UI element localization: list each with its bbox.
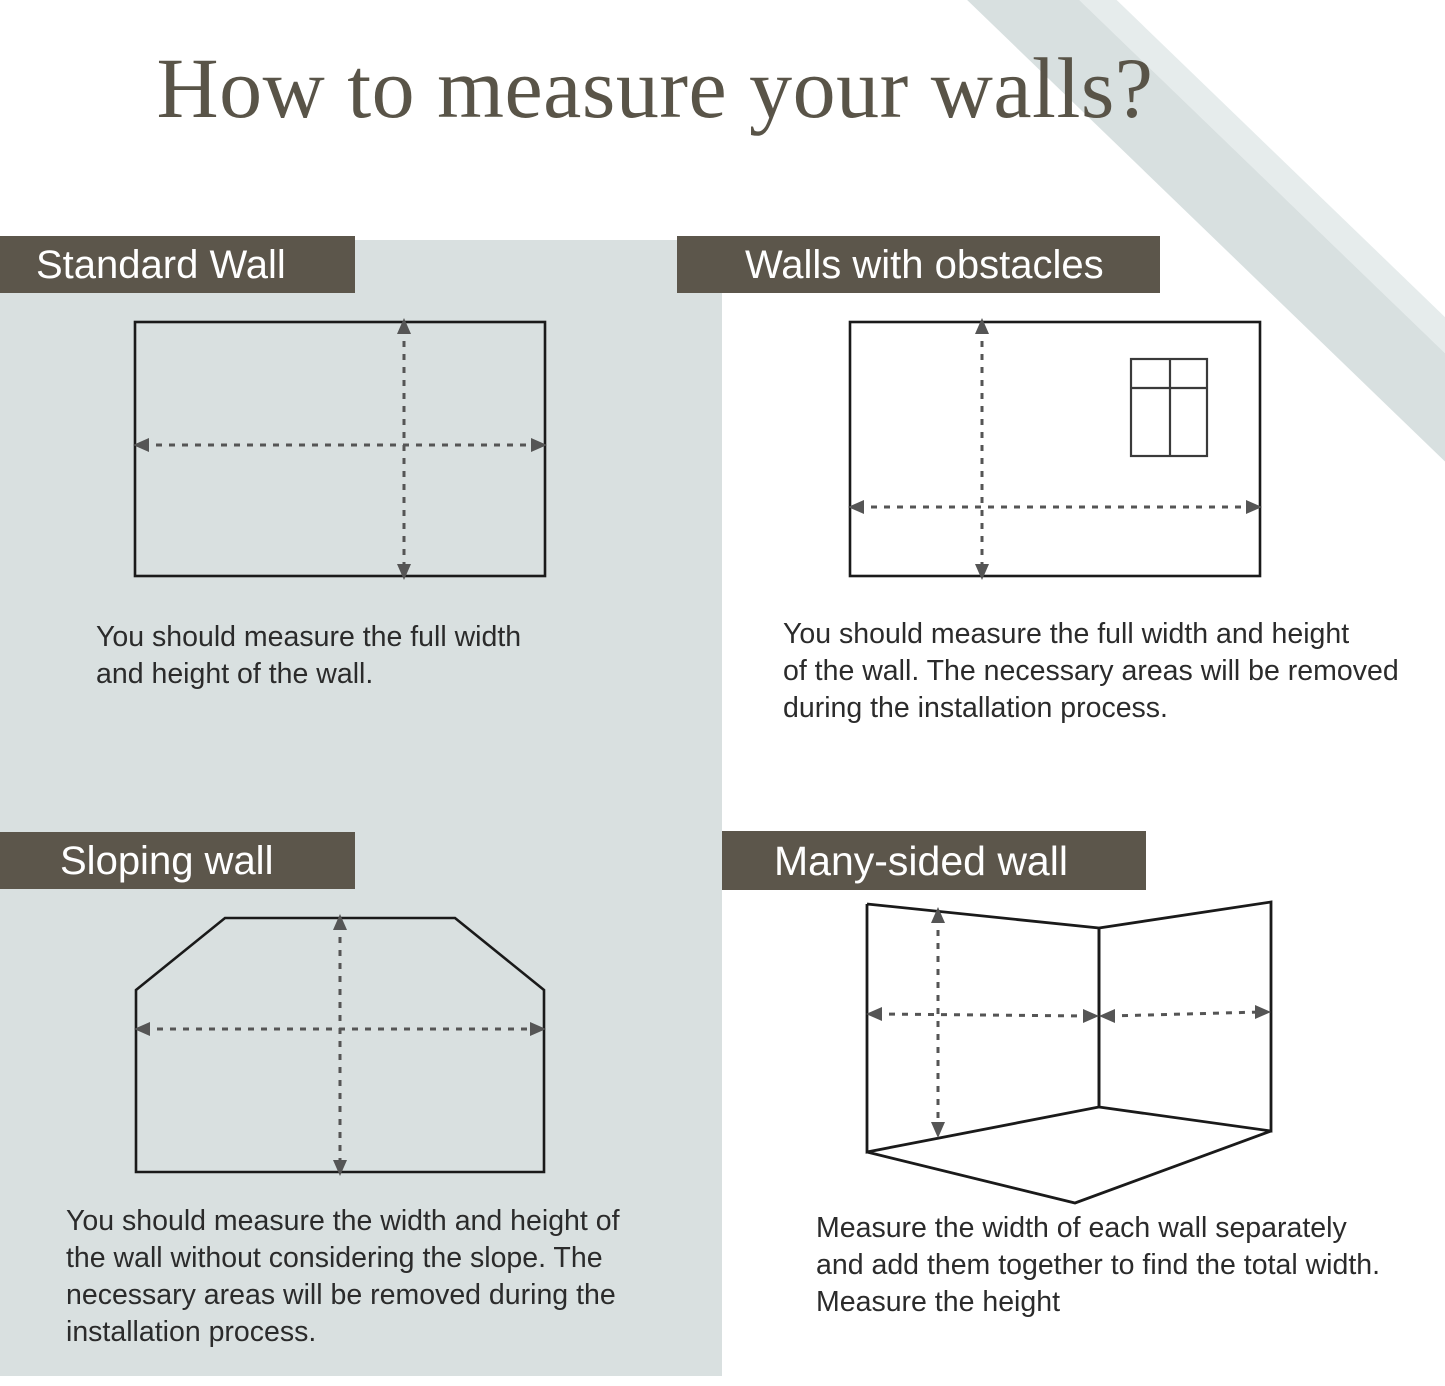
description-sloping-wall: You should measure the width and height … bbox=[66, 1203, 666, 1351]
left-wall-outline bbox=[867, 904, 1099, 1152]
room-geometry bbox=[867, 902, 1271, 1203]
section-header-sloping-wall-label: Sloping wall bbox=[60, 841, 273, 881]
width-1-arrowhead-left bbox=[866, 1007, 882, 1021]
window-obstacle bbox=[1131, 359, 1207, 456]
height-arrowhead-bottom bbox=[397, 564, 411, 580]
width-2-arrowhead-left bbox=[1099, 1009, 1115, 1023]
height-arrowhead-bottom bbox=[975, 564, 989, 580]
page-title: How to measure your walls? bbox=[0, 36, 1310, 140]
description-standard-wall: You should measure the full width and he… bbox=[96, 619, 656, 693]
height-arrowhead-top bbox=[333, 914, 347, 930]
diagram-standard-wall bbox=[110, 300, 580, 600]
diagram-walls-with-obstacles bbox=[830, 300, 1290, 600]
height-arrowhead-bottom bbox=[931, 1122, 945, 1138]
description-walls-with-obstacles: You should measure the full width and he… bbox=[783, 616, 1423, 727]
infographic-page: How to measure your walls? Standard Wall… bbox=[0, 0, 1445, 1386]
section-header-sloping-wall: Sloping wall bbox=[0, 832, 355, 889]
section-header-walls-with-obstacles-label: Walls with obstacles bbox=[745, 245, 1104, 285]
wall-outline-rect bbox=[135, 322, 545, 576]
section-header-standard-wall: Standard Wall bbox=[0, 236, 355, 293]
height-arrowhead-top bbox=[931, 907, 945, 923]
width-2-arrowhead-right bbox=[1255, 1005, 1271, 1019]
description-many-sided-wall: Measure the width of each wall separatel… bbox=[816, 1210, 1436, 1321]
wall-outline-rect bbox=[850, 322, 1260, 576]
width-dimension-arrow-wall-2 bbox=[1109, 1012, 1261, 1016]
width-dimension-arrow-wall-1 bbox=[876, 1014, 1089, 1016]
height-arrowhead-top bbox=[397, 318, 411, 334]
diagram-many-sided-wall bbox=[840, 890, 1300, 1215]
section-header-many-sided-wall: Many-sided wall bbox=[722, 831, 1146, 890]
floor-outline bbox=[867, 1131, 1271, 1203]
section-header-walls-with-obstacles: Walls with obstacles bbox=[677, 236, 1160, 293]
width-1-arrowhead-right bbox=[1083, 1009, 1099, 1023]
diagram-sloping-wall bbox=[110, 890, 580, 1200]
section-header-standard-wall-label: Standard Wall bbox=[36, 245, 286, 285]
height-arrowhead-top bbox=[975, 318, 989, 334]
section-header-many-sided-wall-label: Many-sided wall bbox=[774, 841, 1068, 881]
height-arrowhead-bottom bbox=[333, 1160, 347, 1176]
